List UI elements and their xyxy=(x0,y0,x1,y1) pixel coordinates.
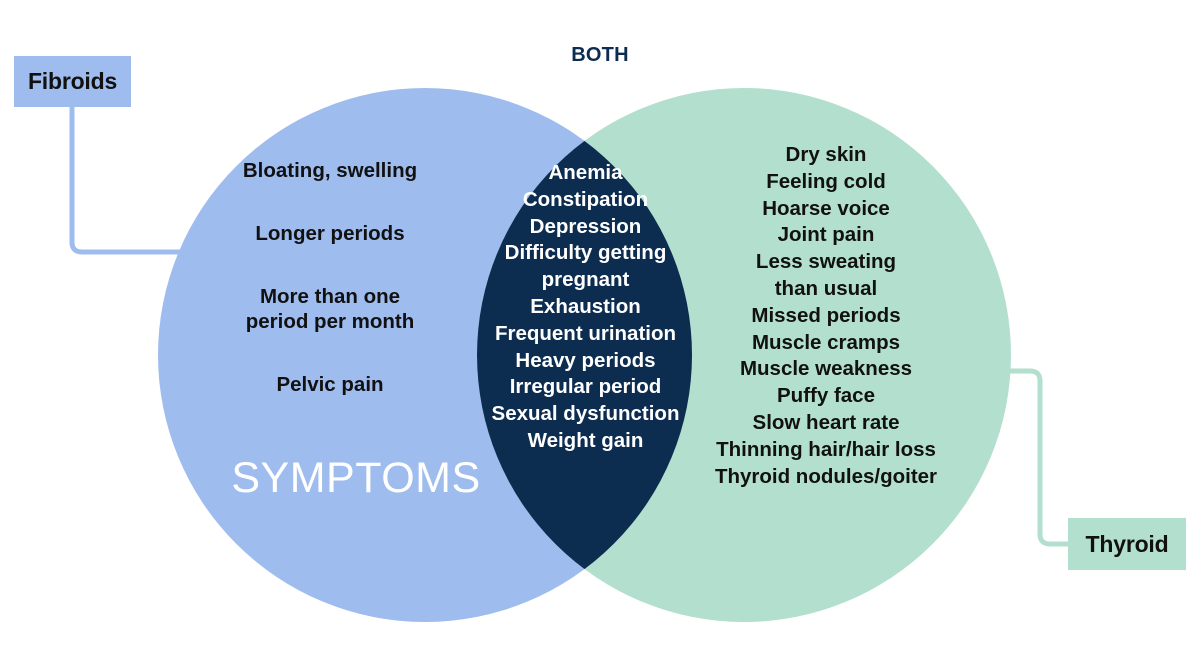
venn-diagram-canvas: BOTH Fibroids Thyroid Bloating, swelling… xyxy=(0,0,1201,647)
thyroid-label-text: Thyroid xyxy=(1086,531,1169,558)
fibroids-only-symptom-list: Bloating, swellingLonger periodsMore tha… xyxy=(190,158,470,397)
list-item: Bloating, swelling xyxy=(190,158,470,183)
list-item: Puffy face xyxy=(692,383,960,410)
list-item: Joint pain xyxy=(692,222,960,249)
list-item: Less sweatingthan usual xyxy=(692,249,960,303)
list-item: Thinning hair/hair loss xyxy=(692,437,960,464)
list-item: Depression xyxy=(468,214,703,241)
list-item: Constipation xyxy=(468,187,703,214)
list-item: Weight gain xyxy=(468,428,703,455)
list-item: Slow heart rate xyxy=(692,410,960,437)
list-item: Irregular period xyxy=(468,374,703,401)
list-item: Thyroid nodules/goiter xyxy=(692,464,960,491)
thyroid-only-symptom-list: Dry skinFeeling coldHoarse voiceJoint pa… xyxy=(692,142,960,490)
list-item: Anemia xyxy=(468,160,703,187)
both-heading: BOTH xyxy=(505,44,695,67)
shared-symptom-list: AnemiaConstipationDepressionDifficulty g… xyxy=(468,160,703,455)
symptoms-watermark: SYMPTOMS xyxy=(196,453,516,503)
list-item: Longer periods xyxy=(190,221,470,246)
list-item: Frequent urination xyxy=(468,321,703,348)
list-item: More than oneperiod per month xyxy=(190,284,470,334)
list-item: Difficulty gettingpregnant xyxy=(468,240,703,294)
thyroid-label-box[interactable]: Thyroid xyxy=(1068,518,1186,570)
list-item: Sexual dysfunction xyxy=(468,401,703,428)
fibroids-label-text: Fibroids xyxy=(28,68,117,95)
list-item: Heavy periods xyxy=(468,348,703,375)
list-item: Dry skin xyxy=(692,142,960,169)
list-item: Exhaustion xyxy=(468,294,703,321)
list-item: Feeling cold xyxy=(692,169,960,196)
list-item: Muscle weakness xyxy=(692,356,960,383)
list-item: Missed periods xyxy=(692,303,960,330)
list-item: Pelvic pain xyxy=(190,372,470,397)
fibroids-connector-line xyxy=(72,107,200,252)
list-item: Muscle cramps xyxy=(692,330,960,357)
fibroids-label-box[interactable]: Fibroids xyxy=(14,56,131,107)
list-item: Hoarse voice xyxy=(692,196,960,223)
